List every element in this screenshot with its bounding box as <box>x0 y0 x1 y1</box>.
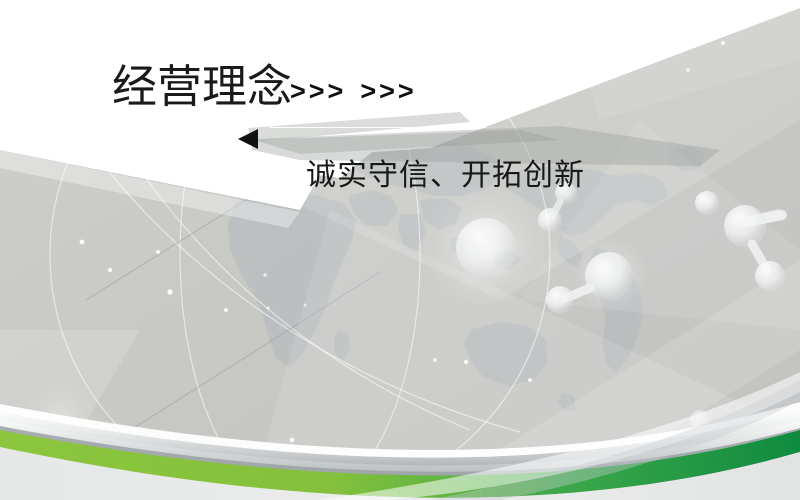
slide-subtitle: 诚实守信、开拓创新 <box>306 150 585 194</box>
chevrons-left-icon: >>> <box>290 76 346 107</box>
left-triangle-icon <box>238 129 258 149</box>
chevrons-right-icon: >>> <box>360 76 416 107</box>
presentation-slide: 经营理念 >>> >>> 诚实守信、开拓创新 <box>0 0 800 500</box>
title-row: 经营理念 >>> >>> <box>112 64 417 109</box>
chevron-group: >>> >>> <box>290 76 417 107</box>
page-title: 经营理念 <box>112 64 292 109</box>
